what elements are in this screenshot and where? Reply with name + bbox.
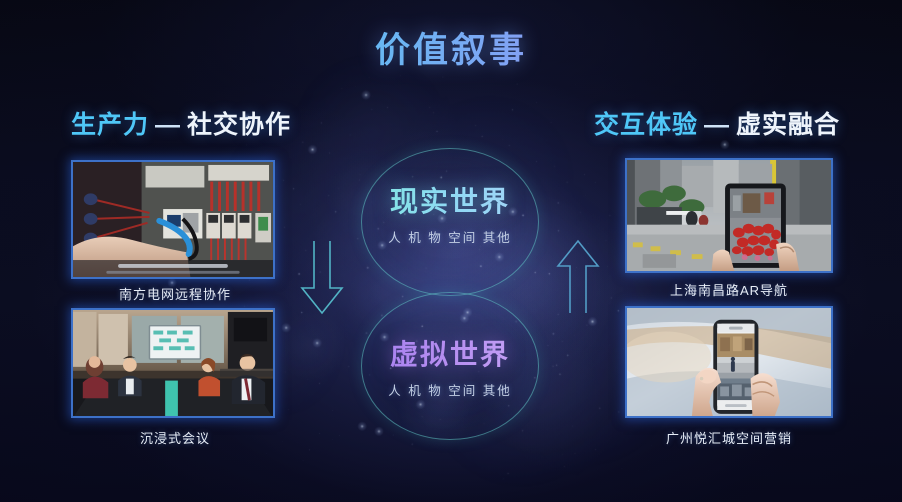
card-image-ar-navigation[interactable] [625, 158, 833, 273]
spatial-marketing-photo [627, 308, 831, 418]
left-header-dash: — [155, 111, 181, 139]
real-world-label-group: 现实世界 人 机 物 空间 其他 [361, 180, 539, 246]
left-column-header: 生产力—社交协作 [71, 105, 291, 141]
arrow-up-icon [553, 238, 603, 314]
card-caption-spatial-marketing: 广州悦汇城空间营销 [622, 428, 836, 447]
right-header-plain: 虚实融合 [736, 111, 840, 139]
card-image-southern-power-grid[interactable] [71, 160, 275, 279]
right-column-header: 交互体验—虚实融合 [594, 105, 840, 141]
virtual-meeting-photo [73, 310, 273, 418]
card-caption-ar-navigation: 上海南昌路AR导航 [622, 280, 836, 299]
card-caption-immersive-meeting: 沉浸式会议 [68, 428, 282, 447]
slide-canvas: 价值叙事 生产力—社交协作 交互体验—虚实融合 [0, 0, 902, 502]
left-header-accent: 生产力 [71, 111, 149, 139]
ar-navigation-photo [627, 160, 831, 273]
electrical-cabinet-photo [73, 162, 273, 279]
card-image-spatial-marketing[interactable] [625, 306, 833, 418]
virtual-world-subtitle: 人 机 物 空间 其他 [361, 380, 539, 399]
right-header-dash: — [704, 111, 730, 139]
left-header-plain: 社交协作 [187, 111, 291, 139]
card-image-immersive-meeting[interactable] [71, 308, 275, 418]
real-world-subtitle: 人 机 物 空间 其他 [361, 227, 539, 246]
virtual-world-title: 虚拟世界 [361, 333, 539, 373]
card-caption-southern-power-grid: 南方电网远程协作 [68, 284, 282, 303]
right-header-accent: 交互体验 [594, 111, 698, 139]
real-world-title: 现实世界 [361, 180, 539, 220]
virtual-world-label-group: 虚拟世界 人 机 物 空间 其他 [361, 333, 539, 399]
arrow-down-icon [297, 240, 347, 316]
page-title: 价值叙事 [0, 22, 902, 73]
